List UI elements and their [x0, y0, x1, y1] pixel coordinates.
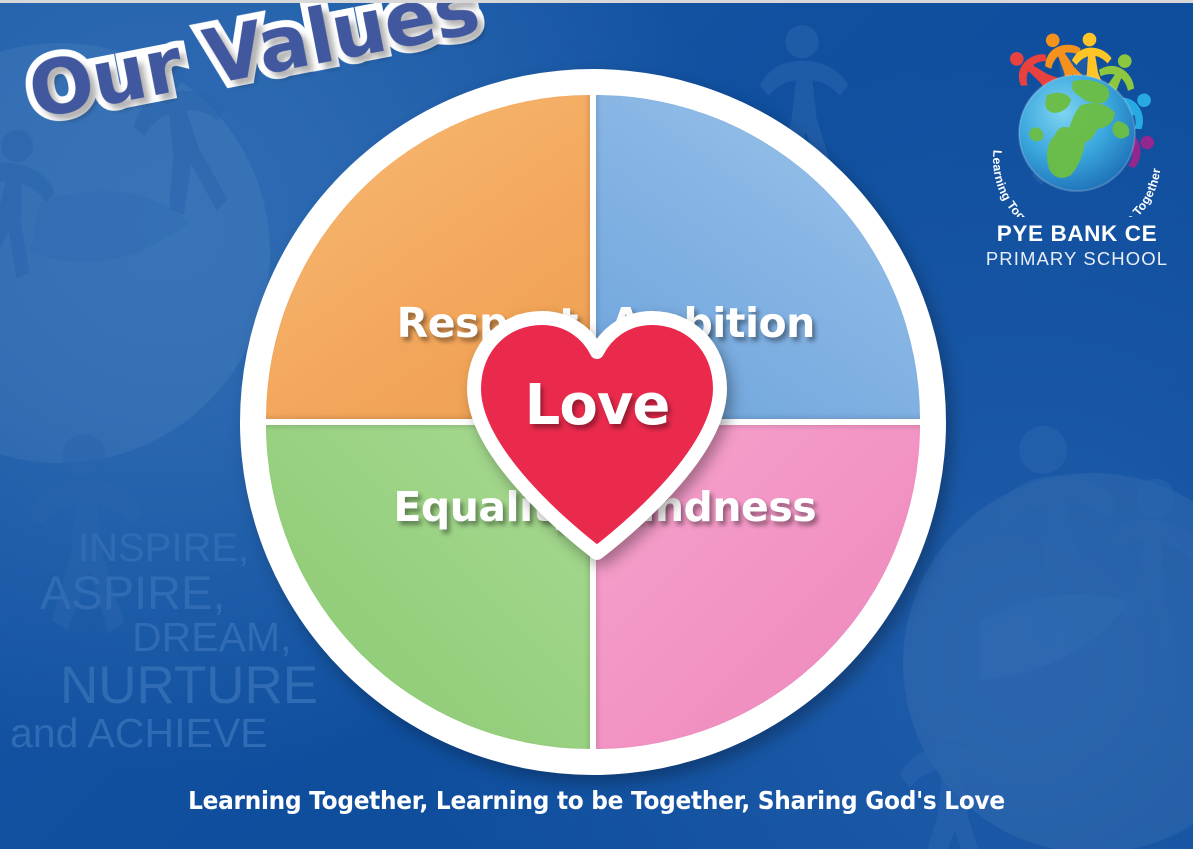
motto-line-5: and ACHIEVE [0, 713, 330, 755]
heart-icon[interactable]: Love [466, 310, 728, 556]
heart-label-love: Love [466, 373, 728, 438]
motto-line-4: NURTURE [0, 659, 330, 713]
motto-line-1: INSPIRE, [0, 528, 330, 569]
values-wheel: Respect Ambition Equality Kindness Love [240, 69, 946, 775]
logo-globe-icon [1019, 75, 1135, 191]
school-logo: Learning Together, Learning to be Togeth… [977, 21, 1177, 270]
school-type: PRIMARY SCHOOL [977, 248, 1177, 270]
motto-line-3: DREAM, [0, 617, 330, 659]
school-name: PYE BANK CE [977, 221, 1177, 247]
motto-watermark: INSPIRE, ASPIRE, DREAM, NURTURE and ACHI… [0, 528, 330, 754]
logo-mark: Learning Together, Learning to be Togeth… [977, 21, 1177, 217]
values-poster: Our Values Respect Ambition Equality Kin… [0, 0, 1193, 849]
tagline: Learning Together, Learning to be Togeth… [42, 786, 1151, 815]
motto-line-2: ASPIRE, [0, 569, 330, 617]
